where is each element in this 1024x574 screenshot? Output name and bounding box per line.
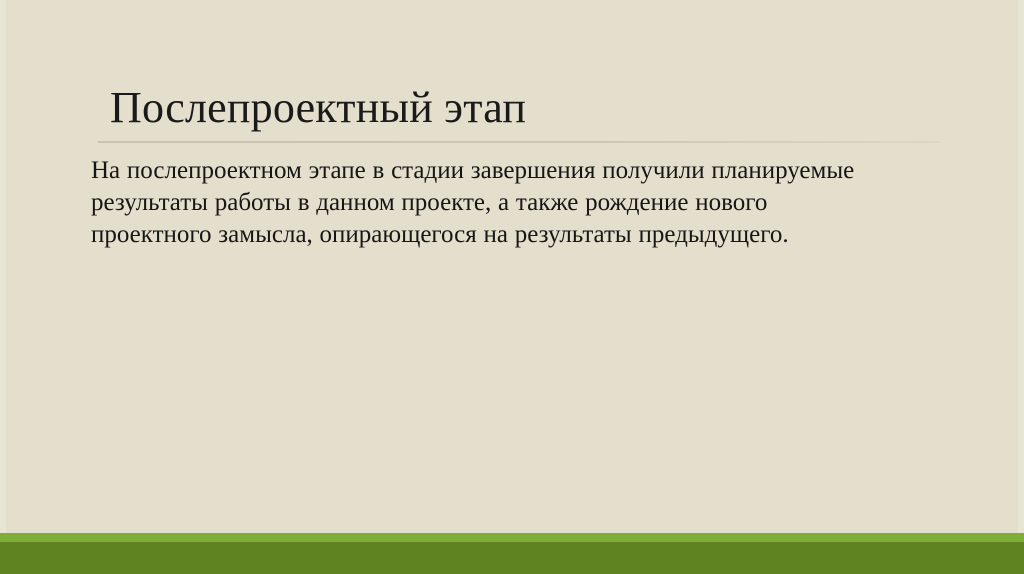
slide-left-edge-highlight: [0, 0, 6, 574]
slide-title: Послепроектный этап: [110, 82, 940, 134]
presentation-slide: Послепроектный этап На послепроектном эт…: [0, 0, 1024, 574]
slide-body-text: На послепроектном этапе в стадии заверше…: [91, 155, 881, 251]
slide-right-edge-highlight: [1018, 0, 1024, 574]
footer-band-dark-green: [0, 542, 1024, 574]
footer-band-light-green: [0, 533, 1024, 542]
title-underline-rule: [98, 141, 940, 143]
